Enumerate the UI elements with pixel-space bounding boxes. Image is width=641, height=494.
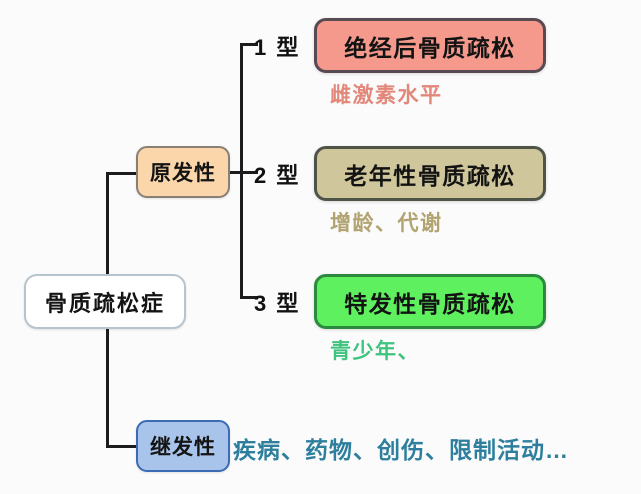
secondary-causes-description: 疾病、药物、创伤、限制活动… xyxy=(233,431,569,465)
connector-root-to-primary-horizontal xyxy=(106,172,138,175)
type-label-2: 2 型 xyxy=(254,158,300,190)
node-branch-secondary[interactable]: 继发性 xyxy=(136,420,230,472)
type-label-1: 1 型 xyxy=(254,30,300,62)
connector-root-to-secondary-vertical xyxy=(106,328,109,448)
node-root-osteoporosis[interactable]: 骨质疏松症 xyxy=(24,274,186,329)
type3-subtitle-cause: 青少年、 xyxy=(330,335,420,365)
type-label-3: 3 型 xyxy=(254,286,300,318)
type2-subtitle-cause: 增龄、代谢 xyxy=(330,207,443,237)
connector-root-to-secondary-horizontal xyxy=(106,445,138,448)
type1-subtitle-cause: 雌激素水平 xyxy=(330,79,443,109)
connector-root-to-primary-vertical xyxy=(106,172,109,277)
node-branch-primary[interactable]: 原发性 xyxy=(136,146,230,198)
node-type1-postmenopausal[interactable]: 绝经后骨质疏松 xyxy=(314,18,546,73)
node-type3-idiopathic[interactable]: 特发性骨质疏松 xyxy=(314,274,546,329)
diagram-canvas: 骨质疏松症 原发性 继发性 疾病、药物、创伤、限制活动… 1 型 绝经后骨质疏松… xyxy=(0,0,641,494)
node-type2-senile[interactable]: 老年性骨质疏松 xyxy=(314,146,546,201)
